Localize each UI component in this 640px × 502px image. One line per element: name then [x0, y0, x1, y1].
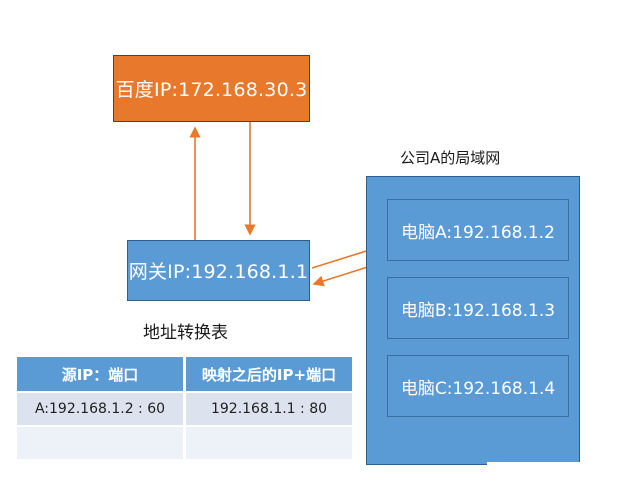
node-host-c: 电脑C:192.168.1.4 — [387, 355, 569, 417]
cell-source-ip-empty — [17, 427, 183, 459]
column-header-mapped-ip: 映射之后的IP+端口 — [186, 357, 352, 391]
node-internet-server: 百度IP:172.168.30.3 — [113, 55, 310, 122]
node-host-a-label: 电脑A:192.168.1.2 — [401, 218, 555, 243]
cell-source-ip: A:192.168.1.2 : 60 — [17, 393, 183, 425]
node-gateway: 网关IP:192.168.1.1 — [127, 240, 310, 301]
nat-table: 源IP：端口 映射之后的IP+端口 A:192.168.1.2 : 60 192… — [14, 355, 355, 461]
table-row — [17, 427, 352, 459]
watermark-cover-block — [487, 462, 640, 502]
node-internet-label: 百度IP:172.168.30.3 — [116, 75, 308, 102]
cell-mapped-ip: 192.168.1.1 : 80 — [186, 393, 352, 425]
node-host-b-label: 电脑B:192.168.1.3 — [401, 296, 555, 321]
node-host-a: 电脑A:192.168.1.2 — [387, 199, 569, 261]
node-host-b: 电脑B:192.168.1.3 — [387, 277, 569, 339]
table-header-row: 源IP：端口 映射之后的IP+端口 — [17, 357, 352, 391]
cell-mapped-ip-empty — [186, 427, 352, 459]
node-host-c-label: 电脑C:192.168.1.4 — [401, 374, 555, 399]
column-header-source-ip: 源IP：端口 — [17, 357, 183, 391]
diagram-canvas: 百度IP:172.168.30.3 网关IP:192.168.1.1 公司A的局… — [0, 0, 640, 502]
lan-panel: 电脑A:192.168.1.2 电脑B:192.168.1.3 电脑C:192.… — [366, 176, 580, 465]
lan-title: 公司A的局域网 — [400, 147, 500, 168]
node-gateway-label: 网关IP:192.168.1.1 — [129, 257, 309, 284]
table-row: A:192.168.1.2 : 60 192.168.1.1 : 80 — [17, 393, 352, 425]
nat-table-title: 地址转换表 — [143, 318, 228, 343]
